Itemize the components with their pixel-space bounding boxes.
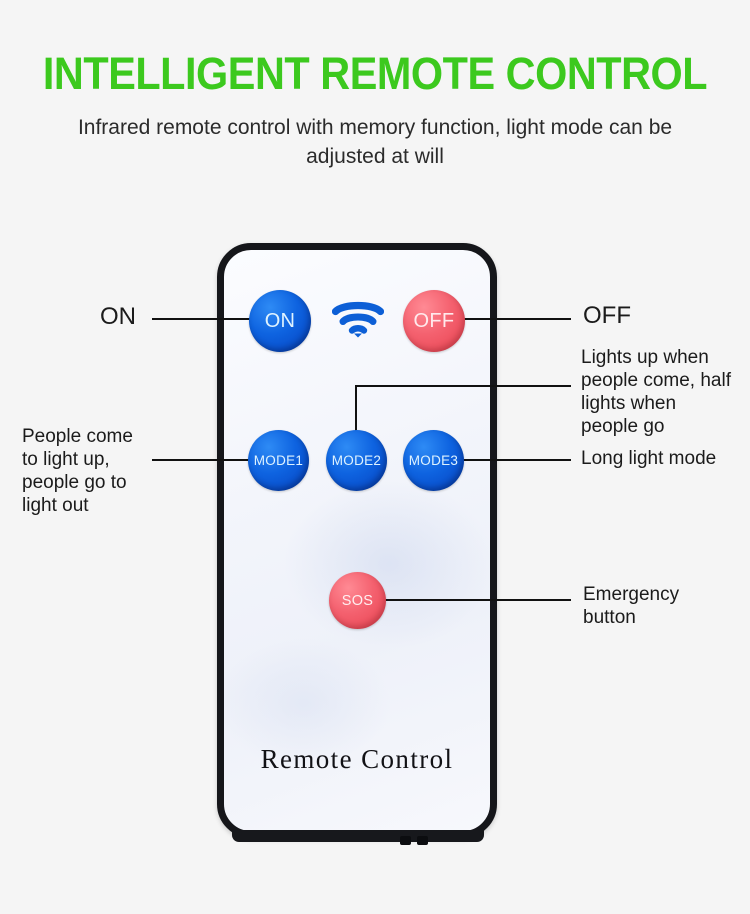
leader-line-sos	[378, 599, 571, 601]
leader-line-off	[457, 318, 571, 320]
remote-brand-text: Remote Control	[217, 744, 497, 775]
leader-line-mode2-horizontal	[355, 385, 571, 387]
leader-line-mode2-vertical	[355, 385, 357, 435]
leader-line-on	[152, 318, 251, 320]
button-off[interactable]: OFF	[403, 290, 465, 352]
remote-bottom-lip	[232, 830, 484, 842]
wifi-signal-icon	[332, 298, 384, 342]
button-mode3[interactable]: MODE3	[403, 430, 464, 491]
button-sos[interactable]: SOS	[329, 572, 386, 629]
button-mode1[interactable]: MODE1	[248, 430, 309, 491]
promo-page: INTELLIGENT REMOTE CONTROL Infrared remo…	[0, 0, 750, 914]
button-mode2[interactable]: MODE2	[326, 430, 387, 491]
callout-label-mode1: People come to light up, people go to li…	[22, 425, 152, 517]
button-on[interactable]: ON	[249, 290, 311, 352]
leader-line-mode1	[152, 459, 251, 461]
page-title: INTELLIGENT REMOTE CONTROL	[30, 49, 720, 99]
leader-line-mode3	[458, 459, 571, 461]
callout-label-off: OFF	[583, 302, 713, 330]
callout-label-mode3: Long light mode	[581, 447, 741, 470]
page-subtitle: Infrared remote control with memory func…	[75, 113, 675, 171]
remote-lip-notch-right	[417, 836, 428, 845]
remote-lip-notch-left	[400, 836, 411, 845]
callout-label-on: ON	[100, 303, 160, 331]
callout-label-mode2: Lights up when people come, half lights …	[581, 346, 731, 438]
callout-label-sos: Emergency button	[583, 583, 693, 629]
